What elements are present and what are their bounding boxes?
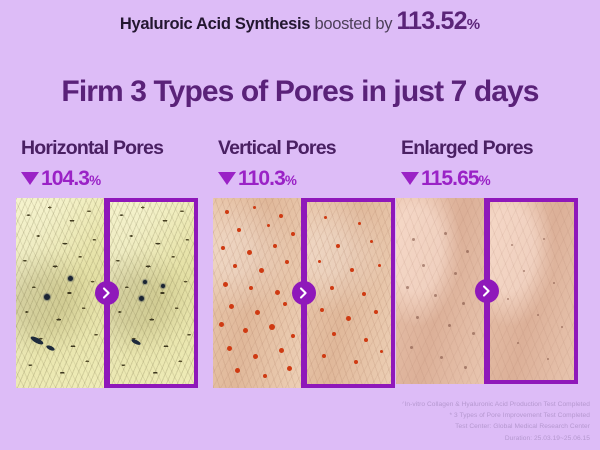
comparison-divider[interactable] (104, 198, 109, 388)
column-horizontal-pores: Horizontal Pores 104.3 % (16, 139, 198, 388)
before-after-pair[interactable] (16, 198, 198, 388)
footnote: ᐟIn-vitro Collagen & Hyaluronic Acid Pro… (402, 399, 590, 444)
before-after-pair[interactable] (213, 198, 395, 388)
column-title: Enlarged Pores (401, 139, 578, 159)
top-claim-value: 113.52 (396, 7, 466, 35)
top-claim-subject: Hyaluroic Acid Synthesis (120, 15, 310, 33)
comparison-divider[interactable] (484, 198, 489, 384)
after-photo (306, 198, 395, 388)
chevron-right-icon[interactable] (475, 279, 499, 303)
column-stat: 115.65 % (401, 168, 578, 189)
chevron-right-icon[interactable] (95, 281, 119, 305)
down-triangle-icon (21, 172, 39, 185)
footnote-line: Test Center: Global Medical Research Cen… (402, 421, 590, 432)
comparison-divider[interactable] (301, 198, 306, 388)
before-photo (16, 198, 105, 388)
after-photo (109, 198, 198, 388)
down-triangle-icon (218, 172, 236, 185)
footnote-line: ᐟIn-vitro Collagen & Hyaluronic Acid Pro… (402, 399, 590, 410)
column-title: Vertical Pores (218, 139, 395, 159)
down-triangle-icon (401, 172, 419, 185)
stat-value: 104.3 (41, 168, 89, 189)
top-claim-unit: % (467, 16, 480, 33)
column-stat: 110.3 % (218, 168, 395, 189)
footnote-line: Duration: 25.03.19~25.06.15 (402, 433, 590, 444)
page-title: Firm 3 Types of Pores in just 7 days (0, 76, 600, 108)
chevron-right-icon[interactable] (292, 281, 316, 305)
before-photo (396, 198, 485, 384)
comparison-columns: Horizontal Pores 104.3 % (0, 139, 600, 399)
column-title: Horizontal Pores (21, 139, 198, 159)
before-after-pair[interactable] (396, 198, 578, 384)
column-vertical-pores: Vertical Pores 110.3 % (213, 139, 395, 388)
stat-unit: % (479, 174, 491, 188)
footnote-line: * 3 Types of Pore Improvement Test Compl… (402, 410, 590, 421)
stat-value: 110.3 (238, 168, 285, 189)
top-claim: Hyaluroic Acid Synthesis boosted by 113.… (0, 9, 600, 34)
stat-unit: % (89, 174, 101, 188)
column-stat: 104.3 % (21, 168, 198, 189)
top-claim-connector: boosted by (310, 15, 396, 33)
column-enlarged-pores: Enlarged Pores 115.65 % (396, 139, 578, 384)
before-photo (213, 198, 302, 388)
after-photo (489, 198, 578, 384)
stat-value: 115.65 (421, 168, 479, 189)
stat-unit: % (285, 174, 297, 188)
